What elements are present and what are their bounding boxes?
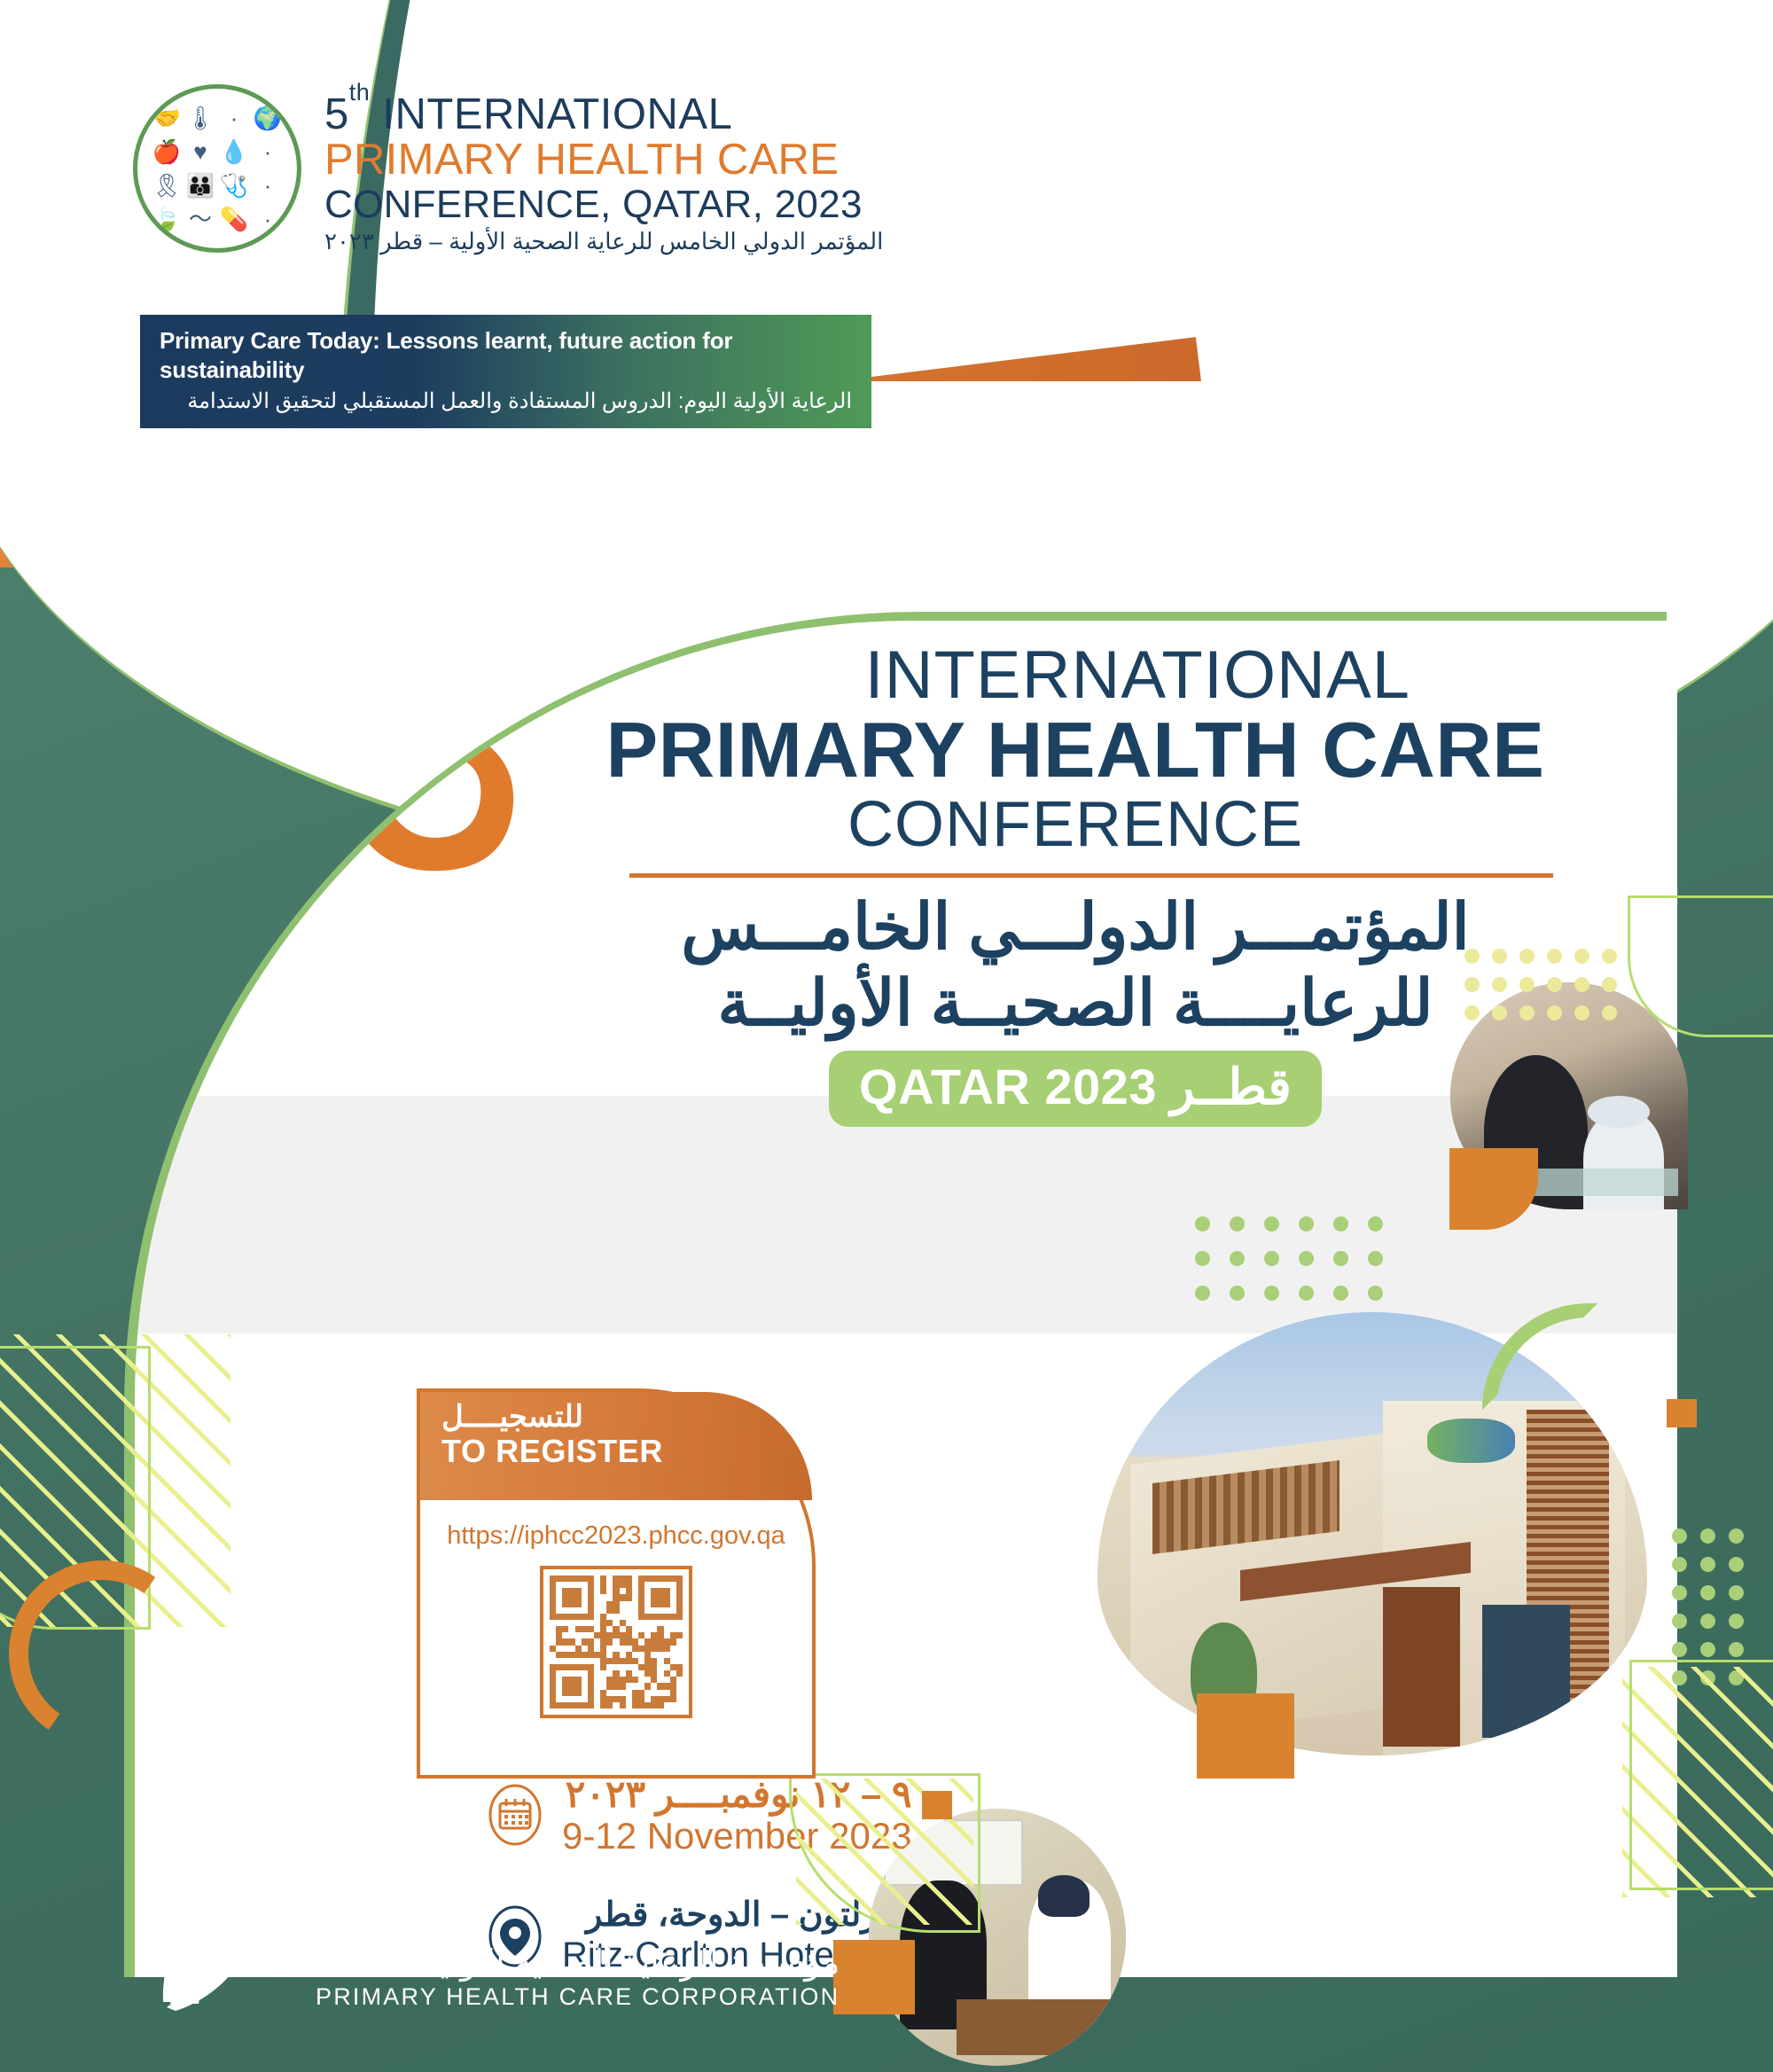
organized-by-arabic: بتنظيـــــم [149, 1763, 312, 1791]
dot-grid-pale [1464, 949, 1616, 1020]
header-line2: PRIMARY HEALTH CARE [324, 137, 883, 184]
main-title-primary-health-care: PRIMARY HEALTH CARE [544, 709, 1606, 791]
header-logo-block: 🤝🌡·🌍 🍎♥💧· 🎗👪🩺· 🍃〜💊· 5th INTERNATIONAL PR… [133, 84, 883, 255]
register-card[interactable]: للتسجيــــل TO REGISTER https://iphcc202… [417, 1388, 816, 1779]
tagline-banner: Primary Care Today: Lessons learnt, futu… [140, 315, 871, 428]
numeral-5-icon [348, 654, 532, 876]
main-title-ordinal: th [544, 642, 589, 702]
register-heading-english: TO REGISTER [441, 1434, 812, 1469]
header-ordinal-suffix: th [349, 79, 371, 106]
outline-shape-bottom-right [1629, 1660, 1773, 1890]
main-title-conference: CONFERENCE [544, 791, 1606, 858]
register-heading-arabic: للتسجيــــل [441, 1401, 812, 1434]
phcc-name-arabic: مؤسسة الرعاية الصحية الأولية [316, 1945, 840, 1982]
main-title-block: th INTERNATIONAL PRIMARY HEALTH CARE CON… [348, 642, 1606, 1127]
main-title-arabic-line1: المؤتمـــر الدولـــي الخامـــس [544, 890, 1606, 966]
phcc-logo: مؤسسة الرعاية الصحية الأولية PRIMARY HEA… [149, 1869, 840, 2020]
dot-grid-center [1195, 1216, 1383, 1301]
square-orange-building [1197, 1693, 1294, 1779]
conference-emblem-icon: 🤝🌡·🌍 🍎♥💧· 🎗👪🩺· 🍃〜💊· [133, 84, 301, 253]
square-orange-right [1667, 1399, 1697, 1427]
organized-by: بتنظيـــــم Organized by [149, 1763, 312, 1824]
main-title-international: INTERNATIONAL [589, 642, 1606, 709]
conference-poster: th INTERNATIONAL PRIMARY HEALTH CARE CON… [0, 0, 1773, 2072]
header-line3: CONFERENCE, QATAR, 2023 [324, 184, 883, 226]
title-divider-rule [629, 873, 1553, 878]
emblem-icon-grid: 🤝🌡·🌍 🍎♥💧· 🎗👪🩺· 🍃〜💊· [150, 101, 285, 236]
phcc-name-english: PRIMARY HEALTH CARE CORPORATION [316, 1982, 840, 2013]
organized-by-english: Organized by [149, 1791, 312, 1824]
phcc-leaf-logo-icon [149, 1869, 298, 2020]
header-international: INTERNATIONAL [370, 90, 732, 138]
header-ordinal-number: 5 [324, 90, 349, 138]
qr-code[interactable] [540, 1566, 692, 1718]
calendar-icon [488, 1783, 543, 1847]
square-orange-consult-left [833, 1940, 915, 2014]
main-title-arabic-line2: للرعايــــة الصحيــة الأوليــة [544, 966, 1606, 1042]
header-line-arabic: المؤتمر الدولي الخامس للرعاية الصحية الأ… [324, 228, 883, 255]
square-orange-consult-top [922, 1791, 952, 1819]
register-url[interactable]: https://iphcc2023.phcc.gov.qa [417, 1521, 816, 1551]
qatar-2023-badge: قطــر QATAR 2023 [829, 1051, 1322, 1127]
header-line1: 5th INTERNATIONAL [324, 93, 883, 137]
tagline-english: Primary Care Today: Lessons learnt, futu… [160, 326, 852, 384]
info-band [135, 1096, 1677, 1333]
register-card-header: للتسجيــــل TO REGISTER [420, 1392, 812, 1500]
tagline-arabic: الرعاية الأولية اليوم: الدروس المستفادة … [160, 387, 852, 415]
